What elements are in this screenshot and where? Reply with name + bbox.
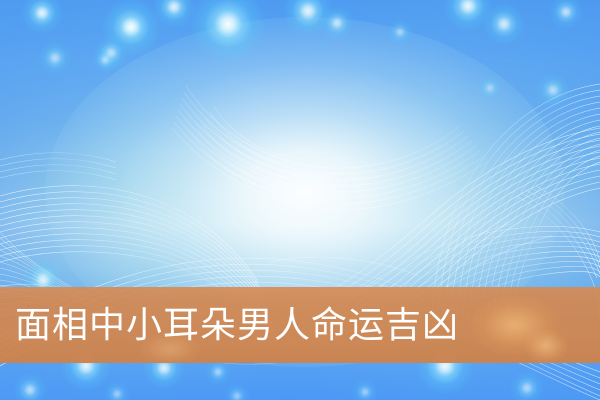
banner-title-text: 面相中小耳朵男人命运吉凶 xyxy=(15,307,459,343)
banner-image: 面相中小耳朵男人命运吉凶 xyxy=(0,0,600,400)
band-flare-right-lower xyxy=(524,329,568,363)
band-flare-right xyxy=(470,295,560,355)
title-band: 面相中小耳朵男人命运吉凶 xyxy=(0,287,600,363)
